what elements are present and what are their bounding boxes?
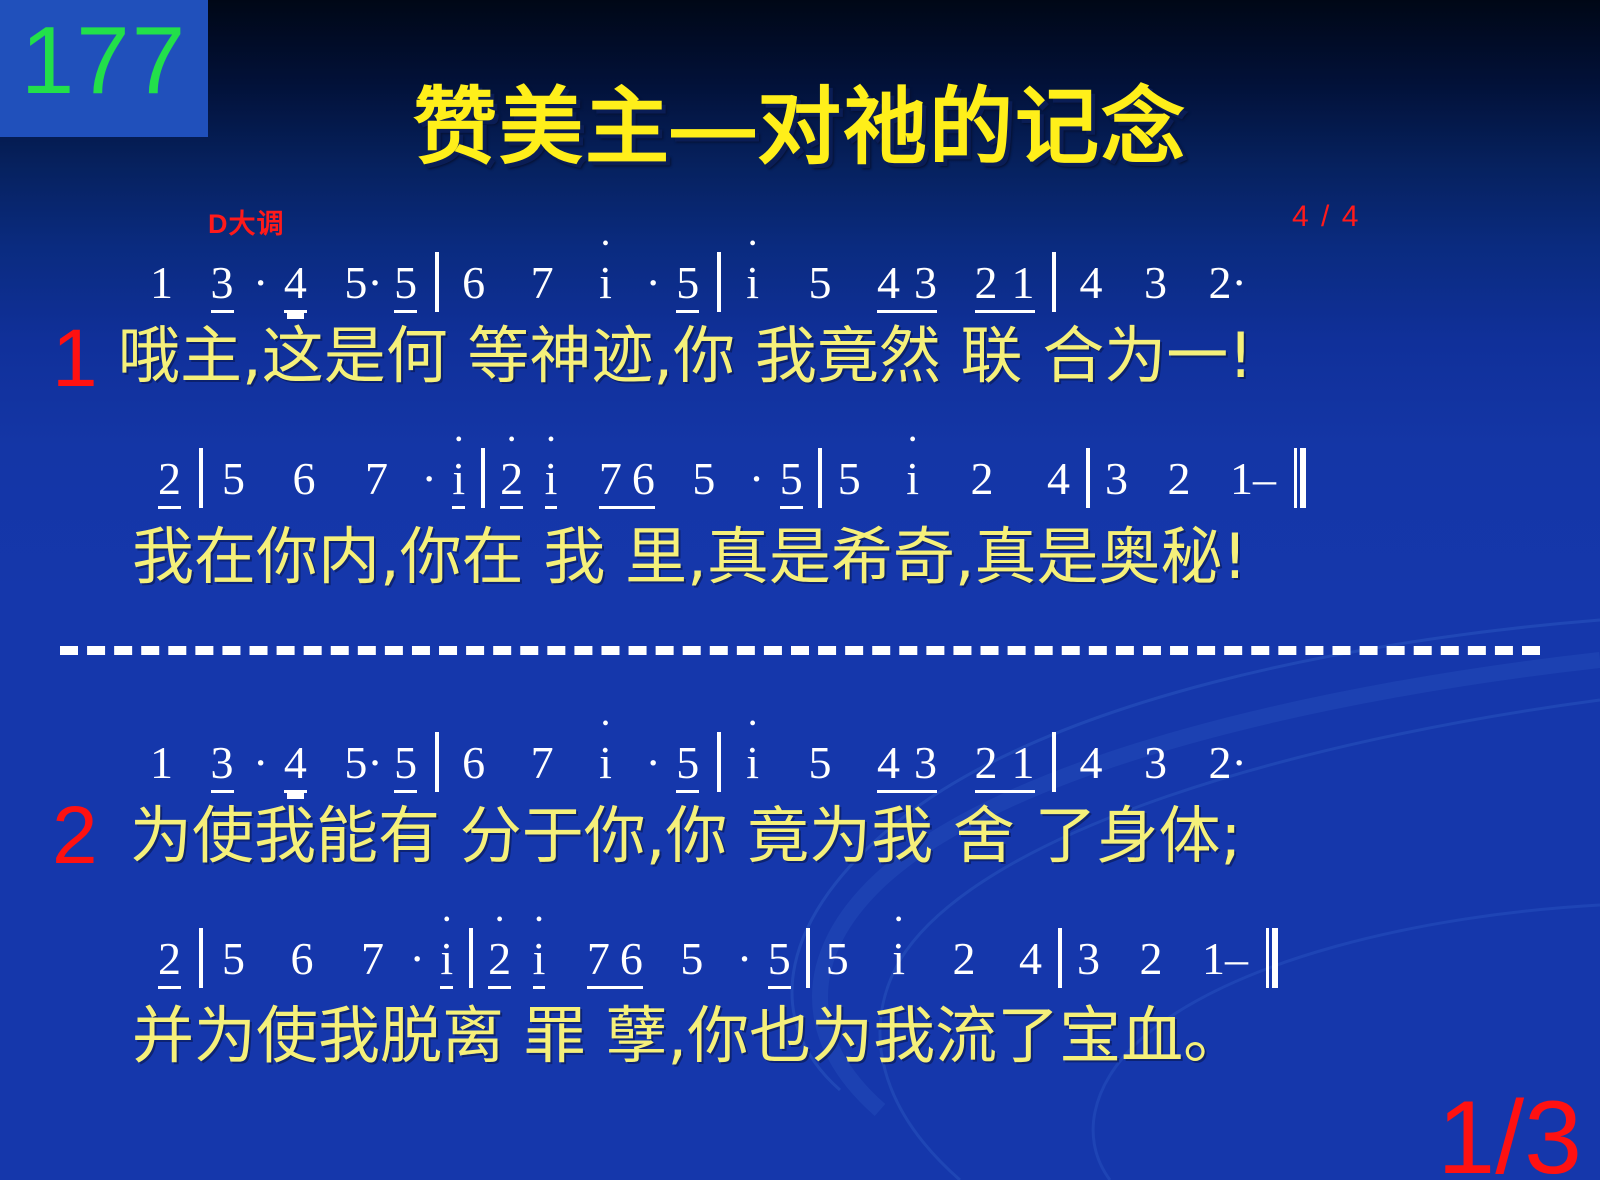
lyric-line-2: 我在你内,你在 我 里,真是希奇,真是奥秘!	[132, 526, 1247, 588]
final-barline	[1266, 928, 1278, 996]
barline	[1058, 928, 1062, 988]
barline	[717, 252, 721, 312]
barline	[199, 928, 203, 988]
time-signature: 4 / 4	[1292, 200, 1360, 234]
verse-number-1: 1	[52, 318, 98, 400]
notation-row-2: 2 5 6 7 · i 2 i 76 5 · 5 5 i 2 4 3 2 1–	[158, 448, 1306, 516]
final-barline	[1294, 448, 1306, 516]
lyric-line-3: 为使我能有 分于你,你 竟为我 舍 了身体;	[130, 805, 1241, 867]
notation-row-4: 2 5 6 7 · i 2 i 76 5 · 5 5 i 2 4 3 2 1–	[158, 928, 1278, 996]
barline	[199, 448, 203, 508]
lyric-line-4: 并为使我脱离 罪 孽,你也为我流了宝血。	[132, 1005, 1245, 1067]
page-indicator: 1/3	[1437, 1086, 1582, 1180]
page-title: 赞美主—对祂的记念	[300, 60, 1300, 181]
barline	[1052, 252, 1056, 312]
notation-row-3: 1 3 · 4 5· 5 6 7 i · 5 i 5 43 21 4 3 2·	[150, 732, 1247, 793]
verse-divider	[60, 646, 1540, 655]
key-signature: D大调	[208, 202, 285, 241]
barline	[717, 732, 721, 792]
lyric-line-1: 哦主,这是何 等神迹,你 我竟然 联 合为一!	[118, 325, 1253, 387]
barline	[1086, 448, 1090, 508]
hymn-number: 177	[0, 0, 208, 128]
verse-number-2: 2	[52, 795, 98, 877]
notation-row-1: 1 3 · 4 5· 5 6 7 i · 5 i 5 43 21 4 3 2·	[150, 252, 1247, 313]
barline	[481, 448, 485, 508]
barline	[435, 732, 439, 792]
barline	[1052, 732, 1056, 792]
barline	[818, 448, 822, 508]
barline	[469, 928, 473, 988]
barline	[806, 928, 810, 988]
barline	[435, 252, 439, 312]
hymn-number-badge: 177	[0, 0, 208, 137]
hymn-slide: 177 赞美主—对祂的记念 D大调 4 / 4 1 1 3 · 4 5· 5 6…	[0, 0, 1600, 1180]
